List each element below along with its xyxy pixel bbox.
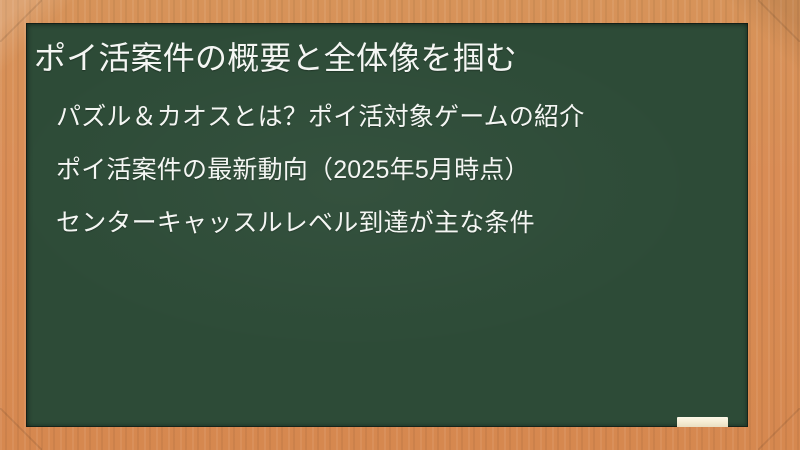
chalkboard-slide: ポイ活案件の概要と全体像を掴む パズル＆カオスとは？ポイ活対象ゲームの紹介 ポイ… — [0, 0, 800, 450]
bullet-list: パズル＆カオスとは？ポイ活対象ゲームの紹介 ポイ活案件の最新動向（2025年5月… — [56, 105, 746, 236]
chalkboard-surface: ポイ活案件の概要と全体像を掴む パズル＆カオスとは？ポイ活対象ゲームの紹介 ポイ… — [26, 23, 748, 427]
slide-title: ポイ活案件の概要と全体像を掴む — [34, 39, 517, 78]
list-item: センターキャッスルレベル到達が主な条件 — [56, 211, 746, 236]
list-item: パズル＆カオスとは？ポイ活対象ゲームの紹介 — [56, 105, 746, 130]
list-item: ポイ活案件の最新動向（2025年5月時点） — [56, 158, 746, 183]
frame-corner-bottom-right — [758, 408, 800, 450]
frame-corner-top-right — [758, 0, 800, 42]
chalk-stick-icon — [677, 417, 728, 427]
